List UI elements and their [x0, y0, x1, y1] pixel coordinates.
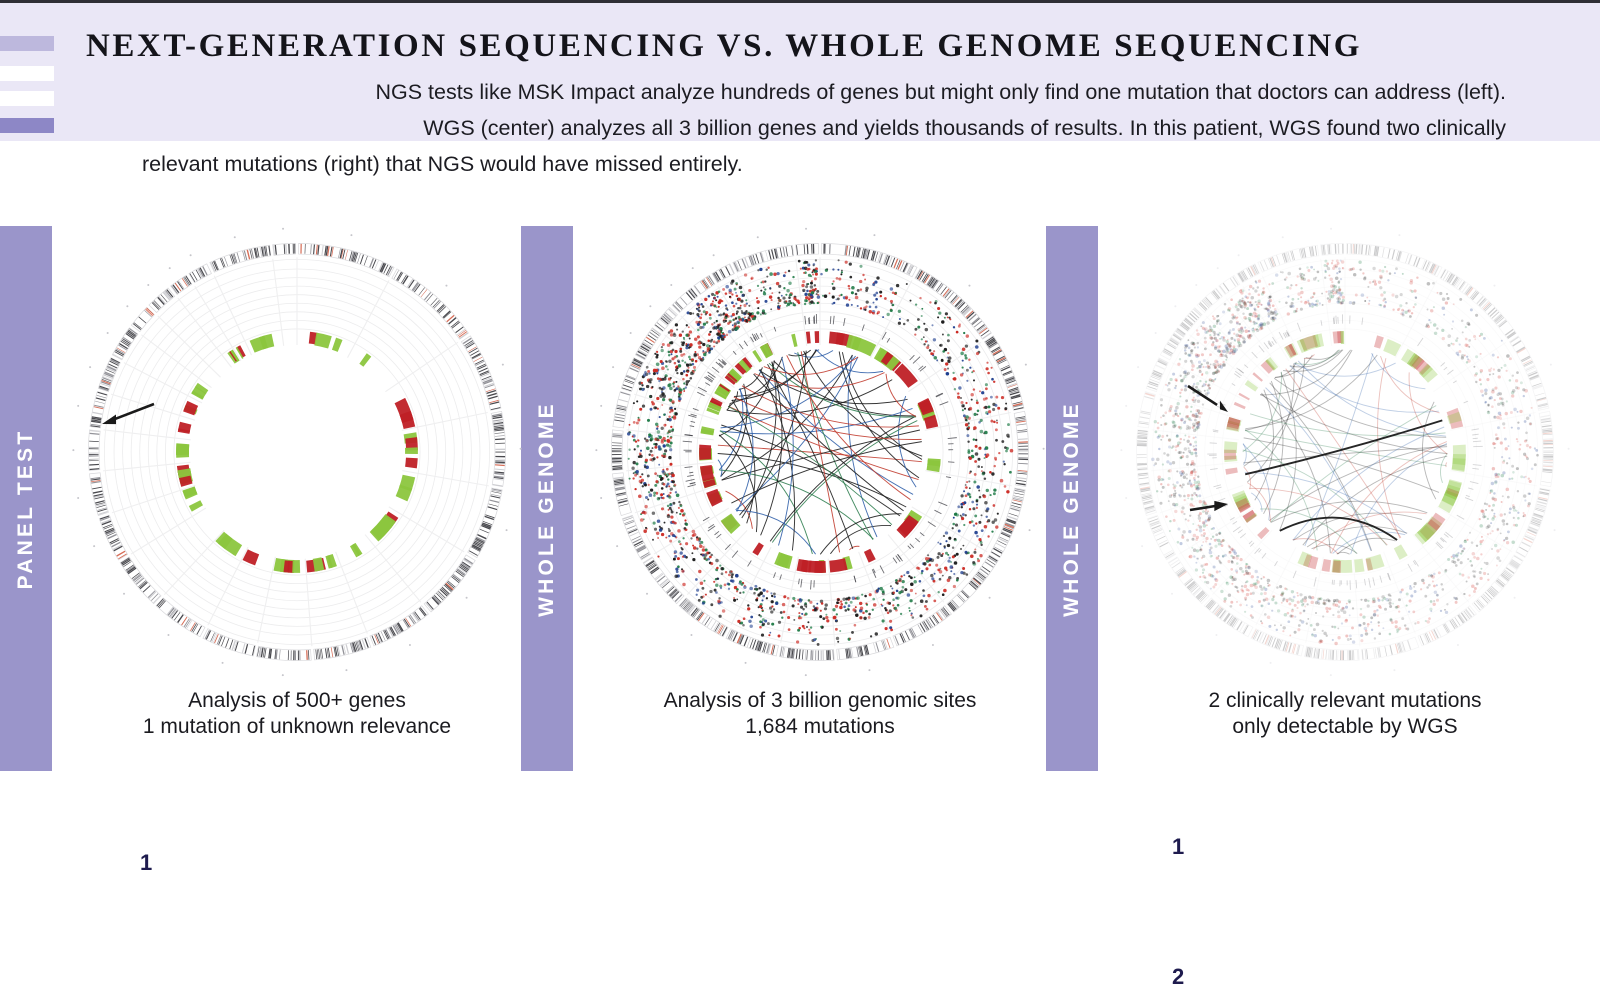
panel-panel-test: 1 Analysis of 500+ genes 1 mutation of u… — [62, 222, 532, 771]
circos-plot-whole-genome-center — [585, 222, 1055, 682]
circos-plot-whole-genome-right: 12 — [1110, 222, 1580, 682]
vertical-label-whole-genome-right: WHOLE GENOME — [1060, 402, 1084, 618]
caption-whole-genome-center: Analysis of 3 billion genomic sites 1,68… — [585, 688, 1055, 740]
page-subtitle: NGS tests like MSK Impact analyze hundre… — [86, 74, 1506, 182]
vertical-label-panel-test: PANEL TEST — [14, 429, 38, 590]
deco-bar-1 — [0, 36, 54, 51]
circos-plot-panel-test: 1 — [62, 222, 532, 682]
deco-bar-2 — [0, 66, 54, 81]
deco-bar-4 — [0, 118, 54, 133]
deco-bar-3 — [0, 91, 54, 106]
structural-variant-links — [718, 350, 923, 555]
caption-line-2: 1,684 mutations — [585, 714, 1055, 740]
panel-whole-genome-center: Analysis of 3 billion genomic sites 1,68… — [585, 222, 1055, 771]
page-title: NEXT-GENERATION SEQUENCING VS. WHOLE GEN… — [86, 28, 1536, 65]
subtitle-line-2: WGS (center) analyzes all 3 billion gene… — [86, 110, 1506, 146]
annotation-number-1: 1 — [140, 850, 152, 876]
caption-whole-genome-right: 2 clinically relevant mutations only det… — [1110, 688, 1580, 740]
subtitle-line-3: relevant mutations (right) that NGS woul… — [86, 146, 1506, 182]
caption-line-2: 1 mutation of unknown relevance — [62, 714, 532, 740]
annotation-number-1: 1 — [1172, 834, 1184, 860]
caption-line-1: Analysis of 3 billion genomic sites — [585, 688, 1055, 714]
caption-line-1: 2 clinically relevant mutations — [1110, 688, 1580, 714]
panel-whole-genome-right: 12 2 clinically relevant mutations only … — [1110, 222, 1580, 771]
vertical-band-panel-test: PANEL TEST — [0, 226, 52, 771]
annotation-number-2: 2 — [1172, 964, 1184, 990]
decorative-bar-stack — [0, 22, 54, 132]
caption-panel-test: Analysis of 500+ genes 1 mutation of unk… — [62, 688, 532, 740]
caption-line-2: only detectable by WGS — [1110, 714, 1580, 740]
structural-variant-links — [1243, 350, 1448, 555]
caption-line-1: Analysis of 500+ genes — [62, 688, 532, 714]
copy-number-ring — [176, 332, 418, 573]
vertical-label-whole-genome-center: WHOLE GENOME — [535, 402, 559, 618]
subtitle-line-1: NGS tests like MSK Impact analyze hundre… — [86, 74, 1506, 110]
small-variant-ticks — [683, 314, 957, 589]
